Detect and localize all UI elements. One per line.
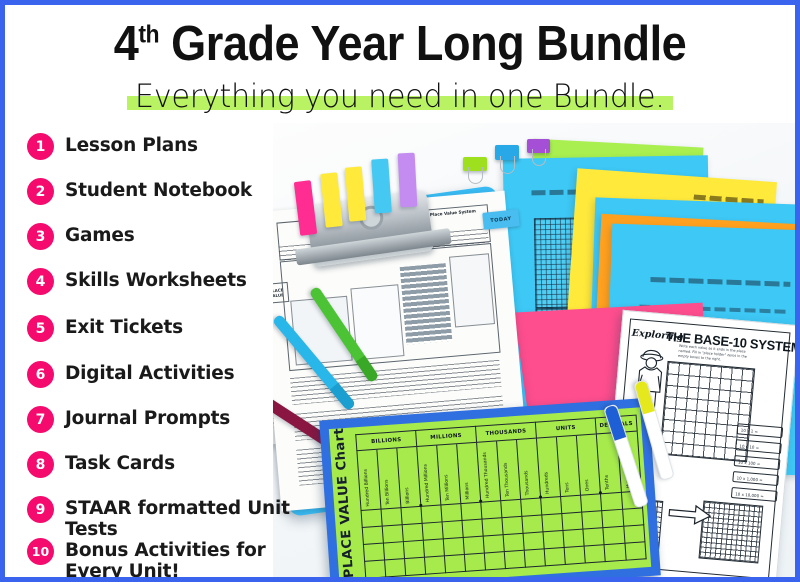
list-item: 9 STAAR formatted Unit Tests [27, 496, 327, 540]
place-value-chart-title: PLACE VALUE Chart [332, 438, 357, 579]
title-ordinal-suffix: th [138, 21, 159, 49]
list-badge: 4 [27, 268, 54, 295]
poster-root: 4th Grade Year Long Bundle Everything yo… [0, 0, 800, 582]
list-item: 2 Student Notebook [27, 178, 252, 205]
pvc-place-label: Ten Thousands [503, 463, 510, 497]
pvc-place-label: Hundreds [544, 472, 551, 494]
list-item: 4 Skills Worksheets [27, 268, 247, 295]
list-item-label: Task Cards [65, 451, 175, 474]
sticky-note [398, 153, 418, 208]
list-item-label: Bonus Activities for Every Unit! [65, 538, 266, 582]
list-item-label: Journal Prompts [65, 406, 230, 429]
list-item: 8 Task Cards [27, 451, 175, 478]
sticky-note [345, 166, 367, 221]
list-item: 10 Bonus Activities for Every Unit! [27, 538, 266, 582]
list-item: 1 Lesson Plans [27, 133, 198, 160]
pvc-place-label: Hundred Billions [363, 469, 371, 507]
product-photo-collage: Exploring THE BASE-10 SYSTEM Write each … [273, 123, 800, 582]
list-badge: 7 [27, 406, 54, 433]
title-number: 4 [114, 17, 139, 71]
pvc-place-label: Tenths [605, 475, 611, 490]
list-badge: 2 [27, 178, 54, 205]
pvc-place-label: Ten Billions [384, 479, 391, 505]
pvc-place-label: Millions [464, 482, 470, 499]
title-rest: Grade Year Long Bundle [159, 17, 686, 71]
arrow-icon [667, 502, 713, 528]
page-subtitle: Everything you need in one Bundle. [135, 77, 665, 115]
pvc-place-label: Ones [584, 479, 590, 491]
pvc-place-label: Hundred Millions [423, 464, 431, 503]
pvc-place-label: Hundred Thousands [482, 452, 490, 498]
list-item-label: STAAR formatted Unit Tests [65, 496, 327, 540]
pvc-place-label: Billions [405, 487, 411, 504]
list-item-label: Student Notebook [65, 178, 252, 201]
list-item-label: Exit Tickets [65, 315, 183, 338]
place-value-chart-page: PLACE VALUE Chart BILLIONS MILLIONS THOU… [329, 407, 651, 582]
list-badge: 6 [27, 361, 54, 388]
pvc-place-label: Thousands [524, 470, 531, 495]
list-item-label: Digital Activities [65, 361, 234, 384]
list-item: 6 Digital Activities [27, 361, 234, 388]
sticky-note [371, 158, 392, 213]
pvc-place-label: Tens [565, 482, 571, 492]
list-item: 3 Games [27, 223, 135, 250]
pvc-place-label: Ten Millions [444, 474, 451, 501]
list-item-label: Lesson Plans [65, 133, 198, 156]
subtitle-wrap: Everything you need in one Bundle. [5, 77, 795, 115]
list-badge: 9 [27, 496, 54, 523]
list-item-label: Games [65, 223, 135, 246]
list-badge: 3 [27, 223, 54, 250]
list-badge: 1 [27, 133, 54, 160]
list-badge: 8 [27, 451, 54, 478]
list-item: 5 Exit Tickets [27, 315, 183, 342]
list-item-label: Skills Worksheets [65, 268, 247, 291]
place-value-table: BILLIONS MILLIONS THOUSANDS UNITS DECIMA… [355, 415, 647, 582]
list-badge: 5 [27, 315, 54, 342]
poster-header: 4th Grade Year Long Bundle Everything yo… [5, 5, 795, 123]
page-title: 4th Grade Year Long Bundle [37, 17, 764, 71]
list-badge: 10 [27, 538, 54, 565]
list-item: 7 Journal Prompts [27, 406, 230, 433]
